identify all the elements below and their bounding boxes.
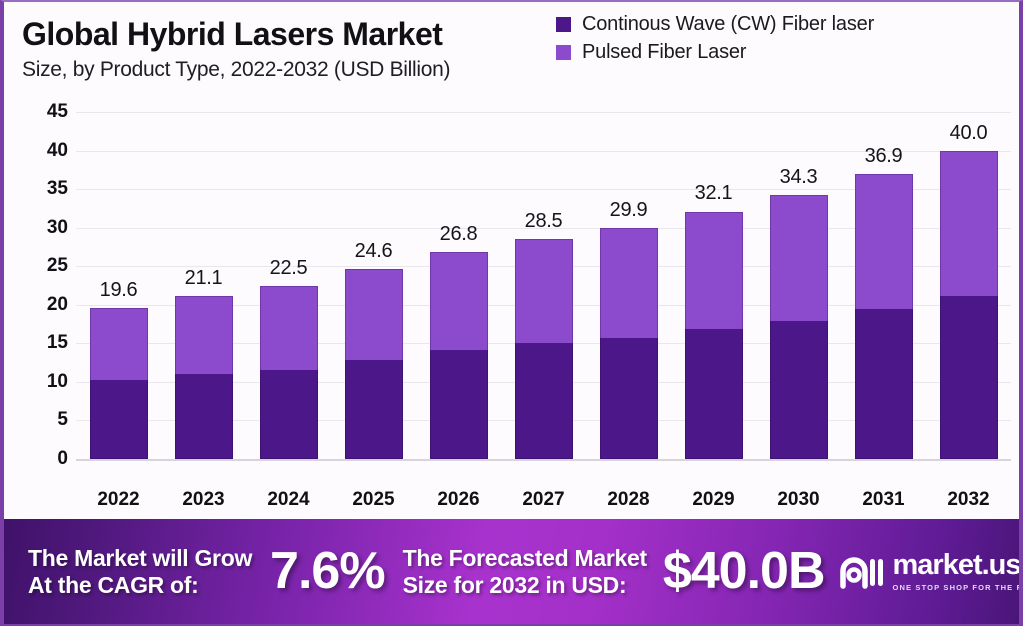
bar-segment-pulsed-fiber-laser[interactable]: [855, 174, 913, 309]
chart-bars: 19.6202221.1202322.5202424.6202526.82026…: [76, 94, 1011, 519]
bar-segment-cw-fiber-laser[interactable]: [600, 338, 658, 459]
bar-segment-cw-fiber-laser[interactable]: [855, 309, 913, 459]
bar-value-label: 36.9: [865, 145, 903, 168]
x-axis-tick-label: 2028: [607, 489, 649, 511]
y-axis-tick-label: 35: [34, 178, 68, 200]
bar-segment-pulsed-fiber-laser[interactable]: [430, 252, 488, 350]
bar-group[interactable]: 36.92031: [855, 174, 913, 459]
y-axis-tick-label: 30: [34, 217, 68, 239]
y-axis-tick-label: 20: [34, 294, 68, 316]
bar-group[interactable]: 22.52024: [260, 286, 318, 459]
bar-value-label: 24.6: [355, 240, 393, 263]
x-axis-tick-label: 2029: [692, 489, 734, 511]
bar-segment-pulsed-fiber-laser[interactable]: [940, 151, 998, 296]
bar-group[interactable]: 28.52027: [515, 239, 573, 459]
bar-group[interactable]: 26.82026: [430, 252, 488, 459]
x-axis-tick-label: 2024: [267, 489, 309, 511]
bar-segment-cw-fiber-laser[interactable]: [430, 350, 488, 459]
x-axis-tick-label: 2023: [182, 489, 224, 511]
x-axis-tick-label: 2022: [97, 489, 139, 511]
cagr-caption: The Market will GrowAt the CAGR of:: [28, 545, 252, 598]
bar-value-label: 26.8: [440, 223, 478, 246]
market-us-logo-icon: [839, 555, 885, 589]
bar-group[interactable]: 34.32030: [770, 195, 828, 459]
bar-group[interactable]: 19.62022: [90, 308, 148, 459]
bar-segment-cw-fiber-laser[interactable]: [260, 370, 318, 459]
y-axis-tick-label: 10: [34, 371, 68, 393]
logo-name: market.us: [893, 551, 1020, 580]
bar-segment-pulsed-fiber-laser[interactable]: [175, 296, 233, 374]
infographic-page: Global Hybrid Lasers Market Size, by Pro…: [0, 0, 1023, 626]
footer-banner: The Market will GrowAt the CAGR of: 7.6%…: [4, 519, 1019, 624]
x-axis-tick-label: 2032: [947, 489, 989, 511]
legend-swatch-pulsed-icon: [556, 45, 571, 60]
forecast-value: $40.0B: [663, 542, 825, 602]
x-axis-tick-label: 2025: [352, 489, 394, 511]
bar-value-label: 34.3: [780, 166, 818, 189]
bar-segment-cw-fiber-laser[interactable]: [90, 380, 148, 459]
bar-segment-cw-fiber-laser[interactable]: [345, 360, 403, 459]
bar-segment-pulsed-fiber-laser[interactable]: [345, 269, 403, 359]
forecast-caption: The Forecasted MarketSize for 2032 in US…: [403, 545, 647, 598]
bar-value-label: 21.1: [185, 267, 223, 290]
bar-segment-pulsed-fiber-laser[interactable]: [90, 308, 148, 380]
x-axis-tick-label: 2026: [437, 489, 479, 511]
logo-tagline: ONE STOP SHOP FOR THE REPORTS: [893, 583, 1020, 592]
y-axis-tick-label: 40: [34, 140, 68, 162]
y-axis-tick-label: 45: [34, 101, 68, 123]
y-axis-tick-label: 0: [34, 448, 68, 470]
bar-group[interactable]: 40.02032: [940, 151, 998, 459]
bar-group[interactable]: 32.12029: [685, 212, 743, 460]
x-axis-tick-label: 2027: [522, 489, 564, 511]
bar-segment-pulsed-fiber-laser[interactable]: [515, 239, 573, 343]
x-axis-tick-label: 2030: [777, 489, 819, 511]
bar-group[interactable]: 24.62025: [345, 269, 403, 459]
x-axis-tick-label: 2031: [862, 489, 904, 511]
bar-segment-pulsed-fiber-laser[interactable]: [770, 195, 828, 321]
bar-value-label: 29.9: [610, 199, 648, 222]
bar-segment-cw-fiber-laser[interactable]: [770, 321, 828, 459]
bar-segment-pulsed-fiber-laser[interactable]: [260, 286, 318, 370]
chart-plot-area: 051015202530354045 19.6202221.1202322.52…: [4, 94, 1019, 519]
bar-value-label: 32.1: [695, 182, 733, 205]
y-axis-tick-label: 25: [34, 255, 68, 277]
chart-legend: Continous Wave (CW) Fiber laser Pulsed F…: [556, 10, 874, 66]
bar-segment-cw-fiber-laser[interactable]: [515, 343, 573, 459]
legend-item-cw[interactable]: Continous Wave (CW) Fiber laser: [556, 10, 874, 38]
legend-label-pulsed: Pulsed Fiber Laser: [582, 41, 746, 64]
bar-group[interactable]: 29.92028: [600, 228, 658, 459]
legend-label-cw: Continous Wave (CW) Fiber laser: [582, 13, 874, 36]
page-title: Global Hybrid Lasers Market: [22, 16, 442, 53]
bar-segment-cw-fiber-laser[interactable]: [175, 374, 233, 459]
bar-value-label: 22.5: [270, 257, 308, 280]
bar-value-label: 19.6: [100, 279, 138, 302]
cagr-value: 7.6%: [270, 542, 385, 602]
market-us-logo[interactable]: market.us ONE STOP SHOP FOR THE REPORTS: [839, 551, 1020, 592]
legend-swatch-cw-icon: [556, 17, 571, 32]
y-axis-tick-label: 15: [34, 332, 68, 354]
bar-value-label: 28.5: [525, 210, 563, 233]
bar-segment-cw-fiber-laser[interactable]: [940, 296, 998, 459]
bar-segment-pulsed-fiber-laser[interactable]: [600, 228, 658, 337]
y-axis-tick-label: 5: [34, 409, 68, 431]
bar-segment-cw-fiber-laser[interactable]: [685, 329, 743, 459]
bar-segment-pulsed-fiber-laser[interactable]: [685, 212, 743, 330]
legend-item-pulsed[interactable]: Pulsed Fiber Laser: [556, 38, 874, 66]
page-subtitle: Size, by Product Type, 2022-2032 (USD Bi…: [22, 58, 450, 82]
bar-group[interactable]: 21.12023: [175, 296, 233, 459]
bar-value-label: 40.0: [950, 122, 988, 145]
y-axis: 051015202530354045: [28, 94, 68, 519]
